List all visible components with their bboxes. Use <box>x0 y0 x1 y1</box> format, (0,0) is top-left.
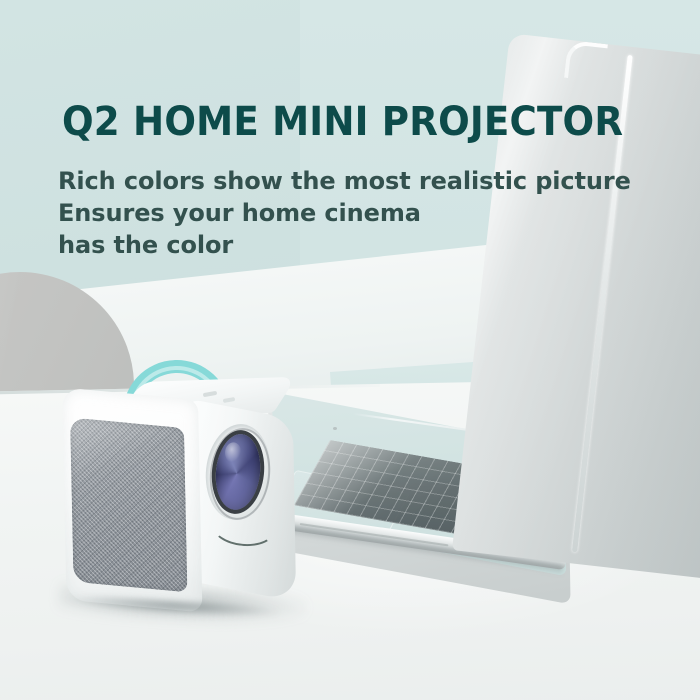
page-title: Q2 HOME MINI PROJECTOR <box>62 99 623 145</box>
product-banner: Q2 HOME MINI PROJECTOR Rich colors show … <box>0 0 700 700</box>
tagline-line-2: Ensures your home cinema <box>58 199 421 227</box>
tagline-line-3: has the color <box>58 231 233 259</box>
projector-speaker-grille-gloss <box>70 417 187 592</box>
tagline-line-1: Rich colors show the most realistic pict… <box>58 167 631 195</box>
